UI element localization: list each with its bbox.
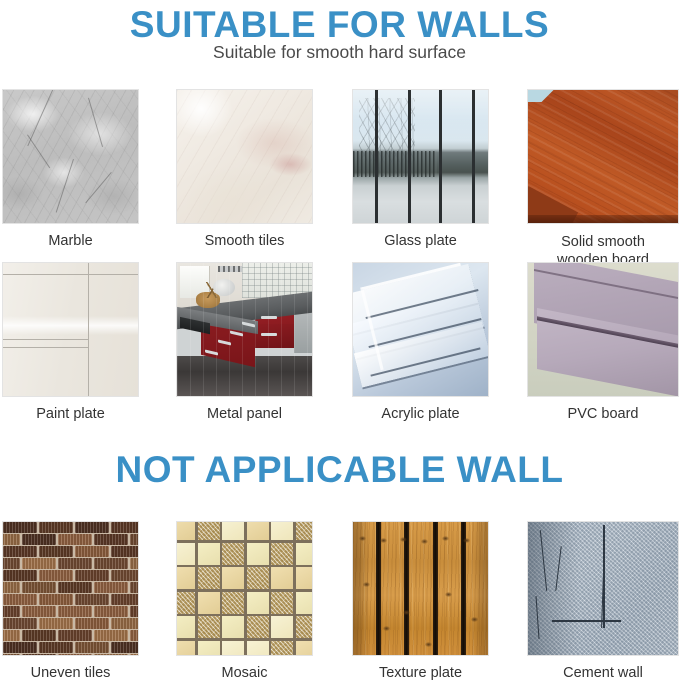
brick bbox=[58, 606, 92, 617]
wood-knot bbox=[403, 610, 410, 615]
mosaic-tile bbox=[247, 567, 269, 589]
wood-knot bbox=[400, 537, 407, 542]
brick bbox=[39, 522, 73, 533]
brick bbox=[58, 630, 92, 641]
material-cell-pvc-board: PVC board bbox=[527, 262, 679, 423]
brick bbox=[111, 570, 139, 581]
wood-knot bbox=[463, 538, 470, 543]
material-cell-cement-wall: Cement wall bbox=[527, 521, 679, 682]
brick bbox=[94, 534, 128, 545]
brick bbox=[3, 618, 37, 629]
brick bbox=[111, 546, 139, 557]
brick bbox=[111, 594, 139, 605]
mosaic-tile bbox=[198, 567, 220, 589]
brick bbox=[3, 642, 37, 653]
mosaic-tile bbox=[198, 616, 220, 638]
mosaic-tile bbox=[271, 616, 293, 638]
mosaic-tile bbox=[271, 592, 293, 614]
wood-knot bbox=[442, 536, 449, 541]
brick bbox=[94, 606, 128, 617]
brick bbox=[94, 582, 128, 593]
brick bbox=[39, 618, 73, 629]
brick bbox=[2, 558, 20, 569]
material-cell-metal-panel: Metal panel bbox=[176, 262, 328, 423]
mosaic-tile bbox=[176, 592, 195, 614]
brick bbox=[75, 522, 109, 533]
wood-knot bbox=[383, 626, 390, 631]
material-cell-wooden-board: Solid smooth wooden board bbox=[527, 89, 679, 269]
wood-knot bbox=[359, 536, 366, 541]
brick bbox=[39, 594, 73, 605]
material-label-cement-wall: Cement wall bbox=[527, 665, 679, 682]
marble-texture-swatch bbox=[2, 89, 139, 224]
brick bbox=[22, 606, 56, 617]
brick bbox=[3, 570, 37, 581]
mosaic-tile bbox=[247, 641, 269, 657]
material-cell-mosaic: Mosaic bbox=[176, 521, 328, 682]
brick bbox=[130, 534, 139, 545]
not-applicable-wall-heading: NOT APPLICABLE WALL bbox=[0, 451, 679, 488]
pvc-board-photo bbox=[527, 262, 679, 397]
paint-plate-photo bbox=[2, 262, 139, 397]
brick bbox=[75, 546, 109, 557]
mosaic-tile bbox=[296, 567, 314, 589]
brick bbox=[22, 582, 56, 593]
material-cell-paint-plate: Paint plate bbox=[2, 262, 154, 423]
brick bbox=[75, 642, 109, 653]
mosaic-tile bbox=[222, 521, 244, 540]
mosaic-tile bbox=[296, 641, 314, 657]
brick bbox=[111, 522, 139, 533]
brick bbox=[2, 630, 20, 641]
metal-panel-kitchen-photo bbox=[176, 262, 313, 397]
brick bbox=[2, 654, 20, 656]
label-line-1: Solid smooth bbox=[527, 233, 679, 251]
material-cell-smooth-tiles: Smooth tiles bbox=[176, 89, 328, 250]
glass-plate-photo bbox=[352, 89, 489, 224]
brick bbox=[22, 654, 56, 656]
mosaic-tile bbox=[271, 641, 293, 657]
material-label-marble: Marble bbox=[2, 233, 139, 250]
material-cell-acrylic-plate: Acrylic plate bbox=[352, 262, 504, 423]
mosaic-tile bbox=[296, 616, 314, 638]
wood-knot bbox=[471, 617, 478, 622]
mosaic-tile bbox=[176, 521, 195, 540]
brick bbox=[2, 582, 20, 593]
material-cell-uneven-tiles: Uneven tiles bbox=[2, 521, 154, 682]
brick bbox=[75, 570, 109, 581]
mosaic-tile bbox=[176, 567, 195, 589]
brick bbox=[75, 618, 109, 629]
mosaic-tile bbox=[247, 521, 269, 540]
material-label-smooth-tiles: Smooth tiles bbox=[176, 233, 313, 250]
mosaic-tile bbox=[271, 521, 293, 540]
brick bbox=[22, 558, 56, 569]
wood-knot bbox=[363, 582, 370, 587]
brick bbox=[39, 642, 73, 653]
material-label-metal-panel: Metal panel bbox=[176, 406, 313, 423]
fence-band bbox=[353, 151, 437, 177]
brick bbox=[111, 642, 139, 653]
brick bbox=[75, 594, 109, 605]
mosaic-tile bbox=[222, 592, 244, 614]
wood-plank-photo bbox=[352, 521, 489, 656]
mosaic-tile bbox=[176, 641, 195, 657]
mosaic-tile bbox=[296, 521, 314, 540]
mosaic-tile-photo bbox=[176, 521, 313, 656]
mosaic-tile bbox=[222, 616, 244, 638]
material-label-paint-plate: Paint plate bbox=[2, 406, 139, 423]
material-label-pvc-board: PVC board bbox=[527, 406, 679, 423]
brick bbox=[3, 546, 37, 557]
brick bbox=[58, 654, 92, 656]
mosaic-tile bbox=[222, 543, 244, 565]
material-label-glass-plate: Glass plate bbox=[352, 233, 489, 250]
acrylic-plate-photo bbox=[352, 262, 489, 397]
brick bbox=[22, 630, 56, 641]
brick bbox=[2, 606, 20, 617]
wood-knot bbox=[445, 592, 452, 597]
material-cell-texture-plate: Texture plate bbox=[352, 521, 504, 682]
brick bbox=[130, 606, 139, 617]
mosaic-tile bbox=[247, 616, 269, 638]
brick bbox=[130, 558, 139, 569]
material-cell-glass-plate: Glass plate bbox=[352, 89, 504, 250]
mosaic-tile bbox=[176, 543, 195, 565]
material-label-texture-plate: Texture plate bbox=[352, 665, 489, 682]
suitable-for-walls-heading: SUITABLE FOR WALLS bbox=[0, 6, 679, 43]
smooth-tile-texture-swatch bbox=[176, 89, 313, 224]
mosaic-tile bbox=[176, 616, 195, 638]
cement-wall-photo bbox=[527, 521, 679, 656]
brick bbox=[130, 654, 139, 656]
brick bbox=[39, 570, 73, 581]
wood-knot bbox=[421, 539, 428, 544]
brick bbox=[3, 522, 37, 533]
brick bbox=[3, 594, 37, 605]
brick-wall-photo bbox=[2, 521, 139, 656]
mosaic-tile bbox=[271, 543, 293, 565]
mosaic-tile bbox=[296, 543, 314, 565]
mosaic-tile bbox=[198, 641, 220, 657]
brick bbox=[2, 534, 20, 545]
mosaic-tile bbox=[296, 592, 314, 614]
brick bbox=[39, 546, 73, 557]
suitable-subtitle: Suitable for smooth hard surface bbox=[0, 44, 679, 62]
material-label-mosaic: Mosaic bbox=[176, 665, 313, 682]
mosaic-tile bbox=[198, 543, 220, 565]
brick bbox=[94, 630, 128, 641]
material-cell-marble: Marble bbox=[2, 89, 154, 250]
brick bbox=[58, 558, 92, 569]
mosaic-tile bbox=[247, 543, 269, 565]
brick bbox=[130, 582, 139, 593]
mosaic-tile bbox=[222, 641, 244, 657]
mosaic-tile bbox=[198, 592, 220, 614]
mosaic-tile bbox=[271, 567, 293, 589]
brick bbox=[94, 558, 128, 569]
brick bbox=[130, 630, 139, 641]
material-label-acrylic-plate: Acrylic plate bbox=[352, 406, 489, 423]
brick bbox=[94, 654, 128, 656]
material-label-uneven-tiles: Uneven tiles bbox=[2, 665, 139, 682]
mosaic-tile bbox=[222, 567, 244, 589]
wood-knot bbox=[425, 642, 432, 647]
mosaic-tile bbox=[247, 592, 269, 614]
mosaic-tile bbox=[198, 521, 220, 540]
wooden-board-photo bbox=[527, 89, 679, 224]
brick bbox=[58, 534, 92, 545]
brick bbox=[111, 618, 139, 629]
wood-knot bbox=[380, 538, 387, 543]
brick bbox=[22, 534, 56, 545]
brick bbox=[58, 582, 92, 593]
